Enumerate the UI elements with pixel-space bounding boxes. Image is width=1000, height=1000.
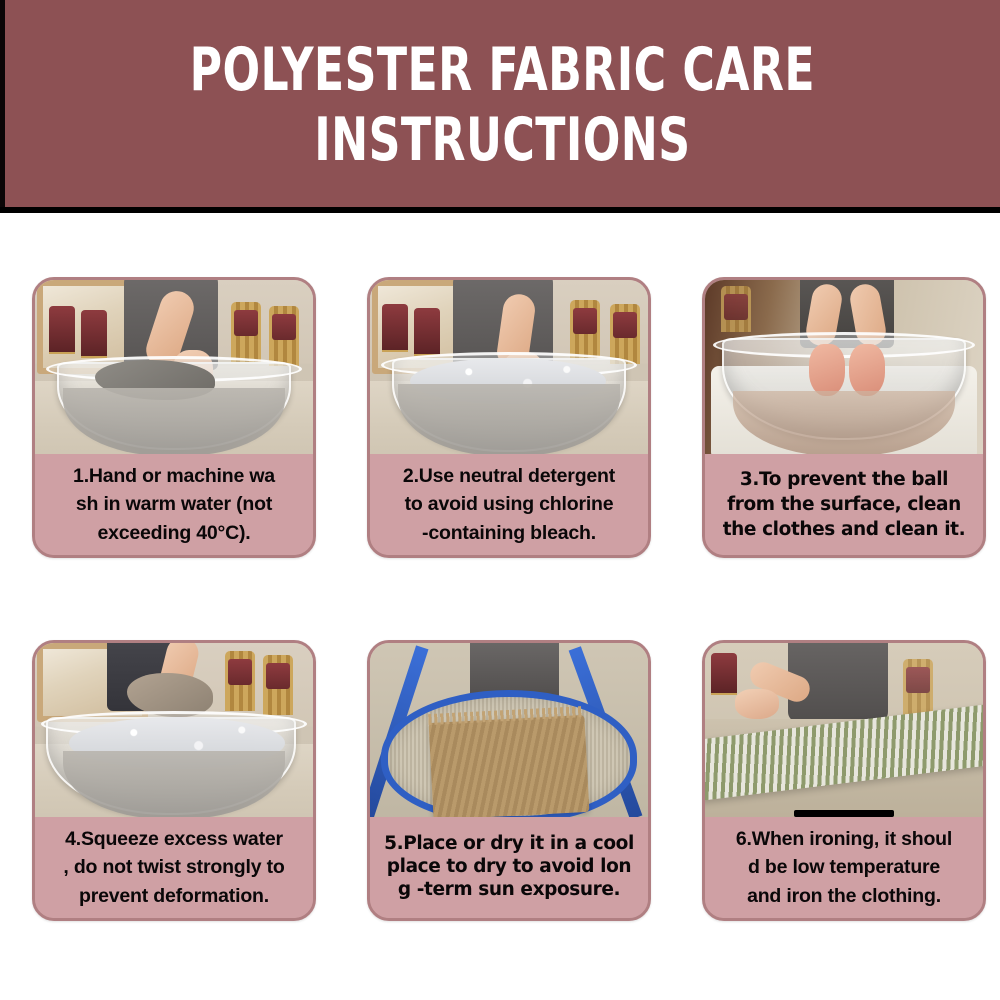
step-card-1[interactable]: 1.Hand or machine wa sh in warm water (n… (32, 277, 316, 558)
caption-line: 2.Use neutral detergent (403, 462, 615, 490)
caption-line: exceeding 40°C). (97, 519, 250, 547)
caption-line: 6.When ironing, it shoul (736, 825, 952, 853)
caption-line: the clothes and clean it. (723, 517, 966, 542)
caption-line: -containing bleach. (422, 519, 596, 547)
page-title-line-2: INSTRUCTIONS (314, 106, 690, 176)
step-caption-2: 2.Use neutral detergent to avoid using c… (370, 454, 648, 555)
step-card-2[interactable]: 2.Use neutral detergent to avoid using c… (367, 277, 651, 558)
caption-line: 3.To prevent the ball (740, 467, 948, 492)
header-divider (0, 207, 1000, 213)
step-caption-3: 3.To prevent the ball from the surface, … (705, 454, 983, 555)
caption-line: to avoid using chlorine (405, 490, 614, 518)
caption-line: 4.Squeeze excess water (65, 825, 283, 853)
infographic-page: POLYESTER FABRIC CARE INSTRUCTIONS (0, 0, 1000, 1000)
step-caption-6: 6.When ironing, it shoul d be low temper… (705, 817, 983, 918)
caption-line: 5.Place or dry it in a cool (384, 833, 634, 856)
step-photo-3 (705, 280, 983, 460)
page-title-line-1: POLYESTER FABRIC CARE (190, 36, 815, 106)
step-photo-5 (370, 643, 648, 823)
step-caption-1: 1.Hand or machine wa sh in warm water (n… (35, 454, 313, 555)
steps-grid: 1.Hand or machine wa sh in warm water (n… (32, 277, 970, 921)
caption-line: d be low temperature (748, 853, 940, 881)
caption-line: sh in warm water (not (76, 490, 272, 518)
step-caption-4: 4.Squeeze excess water , do not twist st… (35, 817, 313, 918)
step-photo-1 (35, 280, 313, 460)
step-photo-4 (35, 643, 313, 823)
step-caption-5: 5.Place or dry it in a cool place to dry… (370, 817, 648, 918)
caption-line: g -term sun exposure. (398, 879, 620, 902)
caption-line: 1.Hand or machine wa (73, 462, 275, 490)
caption-line: prevent deformation. (79, 882, 269, 910)
step-card-6[interactable]: 6.When ironing, it shoul d be low temper… (702, 640, 986, 921)
caption-line: from the surface, clean (727, 492, 961, 517)
step-photo-2 (370, 280, 648, 460)
step-photo-6 (705, 643, 983, 823)
progress-bar-overlay (794, 810, 894, 817)
caption-line: place to dry to avoid lon (387, 856, 631, 879)
step-card-4[interactable]: 4.Squeeze excess water , do not twist st… (32, 640, 316, 921)
step-card-3[interactable]: 3.To prevent the ball from the surface, … (702, 277, 986, 558)
step-card-5[interactable]: 5.Place or dry it in a cool place to dry… (367, 640, 651, 921)
caption-line: and iron the clothing. (747, 882, 941, 910)
page-header: POLYESTER FABRIC CARE INSTRUCTIONS (0, 0, 1000, 207)
caption-line: , do not twist strongly to (63, 853, 284, 881)
